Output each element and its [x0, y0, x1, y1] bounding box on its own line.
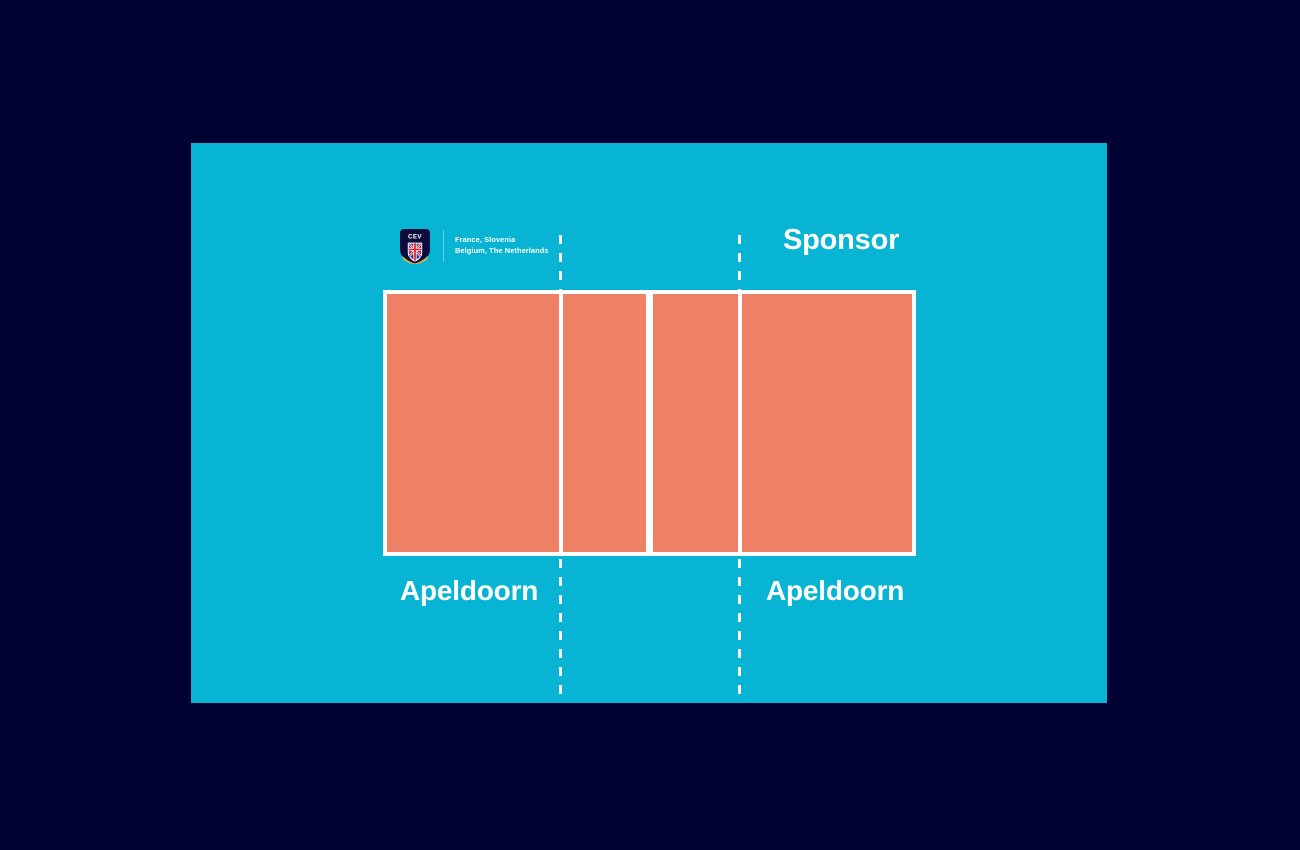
host-countries-line-2: Belgium, The Netherlands — [455, 246, 549, 255]
svg-text:CEV: CEV — [408, 233, 422, 240]
brand-lockup: CEV France, Slovenia Belgium, The Nether… — [400, 225, 549, 267]
host-countries-line-1: France, Slovenia — [455, 235, 515, 244]
court-attack-line-left — [559, 294, 563, 552]
header-row: CEV France, Slovenia Belgium, The Nether… — [191, 143, 1107, 293]
court-attack-line-right — [738, 294, 742, 552]
court-center-net-line — [646, 294, 653, 552]
cev-shield-logo-icon: CEV — [400, 229, 430, 264]
caption-city-left: Apeldoorn — [400, 573, 538, 608]
volleyball-court — [383, 290, 916, 556]
host-countries-text: France, Slovenia Belgium, The Netherland… — [455, 235, 549, 256]
sponsor-label: Sponsor — [783, 226, 899, 255]
brand-divider — [443, 230, 444, 262]
cyan-stage-panel: CEV France, Slovenia Belgium, The Nether… — [191, 143, 1107, 703]
caption-city-right: Apeldoorn — [766, 573, 904, 608]
